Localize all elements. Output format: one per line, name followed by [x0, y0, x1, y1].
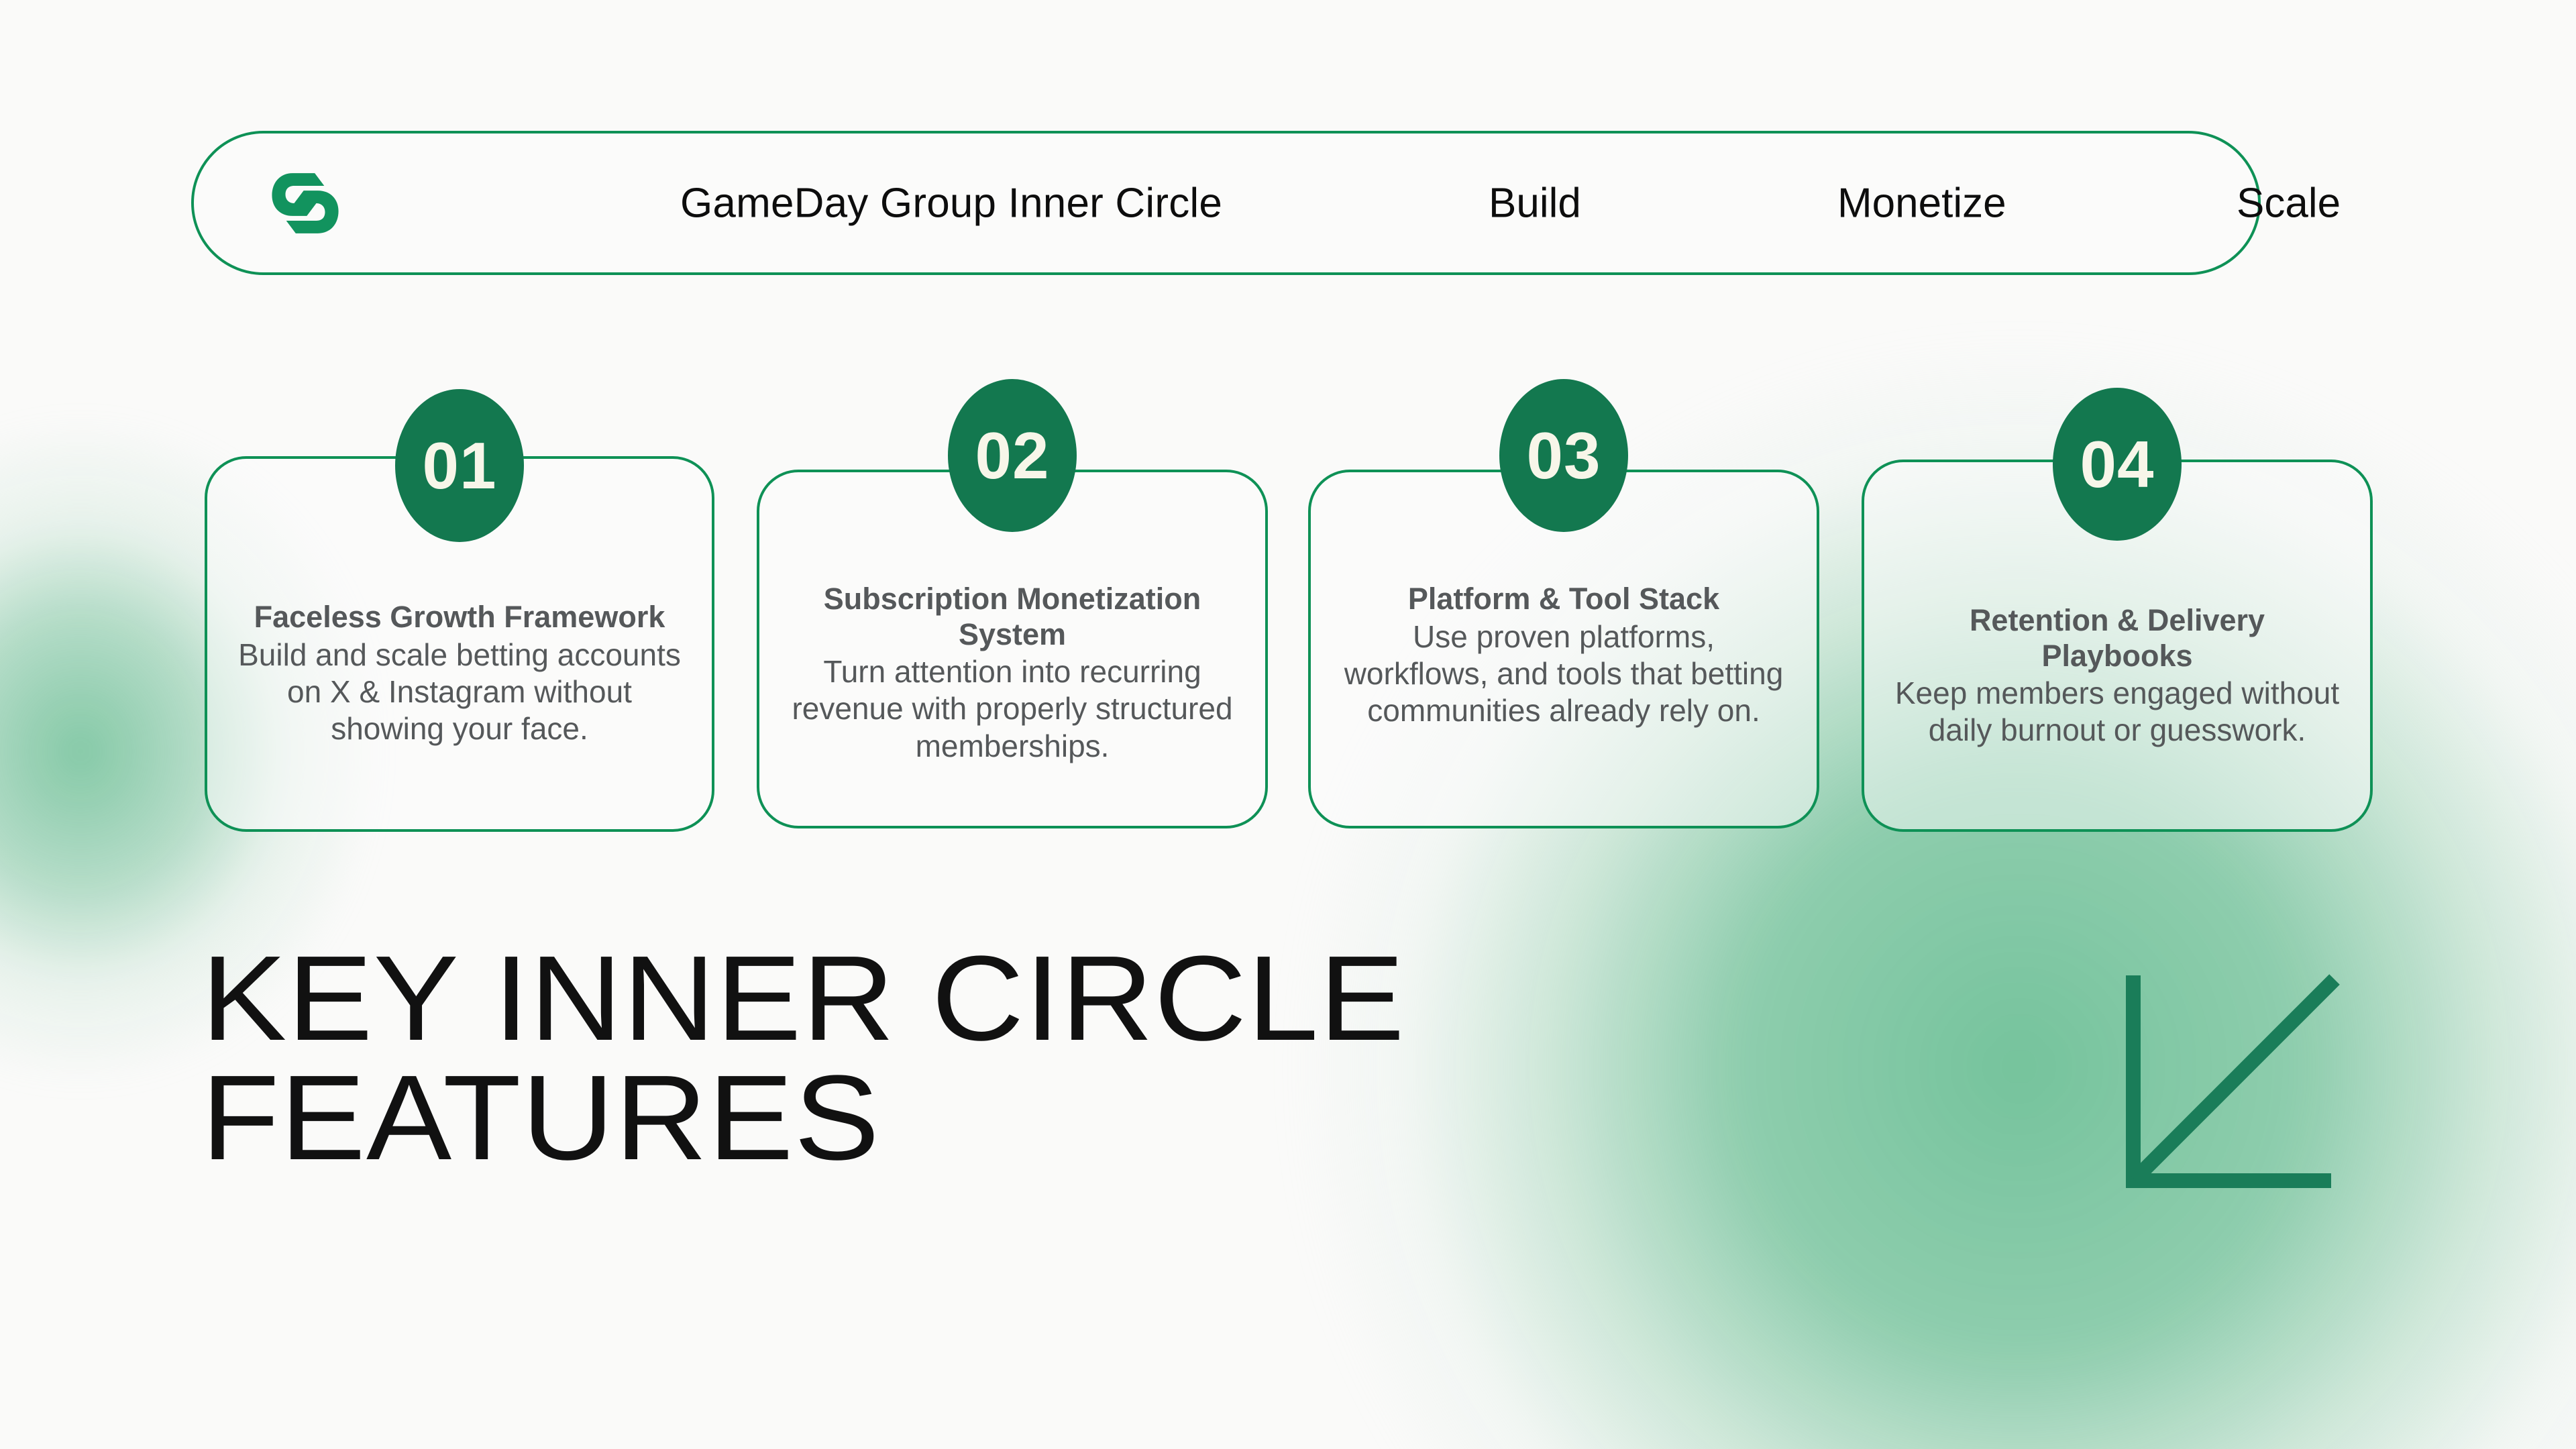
- feature-card-body: Platform & Tool Stack Use proven platfor…: [1340, 582, 1787, 729]
- feature-card-body: Faceless Growth Framework Build and scal…: [237, 600, 682, 747]
- arrow-down-left-icon: [2120, 966, 2348, 1197]
- page-title-line-1: KEY INNER CIRCLE: [201, 939, 1405, 1059]
- feature-card-description: Build and scale betting accounts on X & …: [237, 637, 682, 748]
- gameday-group-monogram-icon[interactable]: [266, 164, 345, 243]
- feature-card-title: Faceless Growth Framework: [237, 600, 682, 635]
- brand-title: GameDay Group Inner Circle: [680, 179, 1222, 227]
- feature-card-description: Keep members engaged without daily burno…: [1894, 675, 2341, 749]
- feature-card-title: Platform & Tool Stack: [1340, 582, 1787, 617]
- feature-card-title: Subscription Monetization System: [789, 582, 1236, 652]
- nav-link-scale[interactable]: Scale: [2237, 179, 2341, 227]
- top-nav-pill: GameDay Group Inner Circle Build Monetiz…: [191, 131, 2261, 275]
- feature-card-body: Retention & Delivery Playbooks Keep memb…: [1894, 603, 2341, 749]
- feature-card-title: Retention & Delivery Playbooks: [1894, 603, 2341, 674]
- feature-card-description: Turn attention into recurring revenue wi…: [789, 653, 1236, 765]
- feature-card-body: Subscription Monetization System Turn at…: [789, 582, 1236, 765]
- feature-card-number-badge: 04: [2053, 388, 2182, 541]
- nav-link-monetize[interactable]: Monetize: [1837, 179, 2006, 227]
- feature-card-description: Use proven platforms, workflows, and too…: [1340, 619, 1787, 730]
- feature-card-number-badge: 01: [395, 389, 524, 542]
- feature-card-number: 02: [975, 423, 1049, 488]
- nav-link-build[interactable]: Build: [1489, 179, 1581, 227]
- page-title-line-2: FEATURES: [201, 1059, 1405, 1178]
- page-title: KEY INNER CIRCLE FEATURES: [201, 939, 1405, 1178]
- feature-card-number-badge: 02: [948, 379, 1077, 532]
- feature-card-number: 03: [1526, 423, 1601, 488]
- feature-card-number: 04: [2080, 431, 2154, 497]
- feature-card-number-badge: 03: [1499, 379, 1628, 532]
- feature-card-number: 01: [422, 433, 496, 498]
- slide-canvas: GameDay Group Inner Circle Build Monetiz…: [0, 0, 2576, 1449]
